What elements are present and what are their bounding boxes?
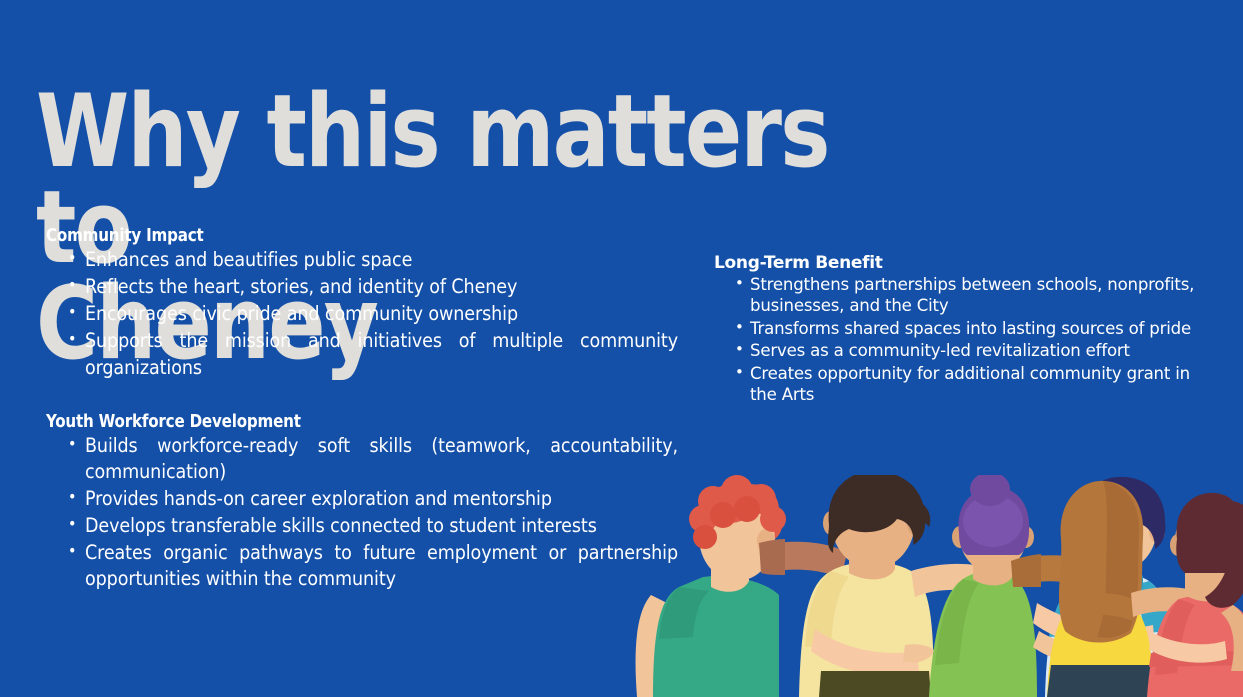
section-youth-workforce-development: Youth Workforce Development Builds workf…: [46, 412, 678, 593]
section-community-impact: Community Impact Enhances and beautifies…: [46, 226, 678, 381]
list-item: Creates opportunity for additional commu…: [714, 363, 1200, 406]
list-item: Creates organic pathways to future emplo…: [46, 540, 678, 592]
list-item: Transforms shared spaces into lasting so…: [714, 318, 1200, 339]
figure-brown-hair-yellow-top: [1047, 481, 1155, 697]
group-of-people-embracing-illustration: [633, 475, 1243, 697]
figure-ponytail-coral-dress: [1147, 493, 1243, 697]
list-item: Strengthens partnerships between schools…: [714, 274, 1200, 317]
section-heading-community-impact: Community Impact: [46, 226, 653, 246]
right-text-column: Long-Term Benefit Strengthens partnershi…: [714, 253, 1200, 406]
figure-dark-hair-yellow-shirt: [799, 475, 991, 697]
list-item: Develops transferable skills connected t…: [46, 513, 678, 539]
column-section-spacer: [46, 382, 678, 412]
figure-purple-bun-green-dress: [929, 475, 1037, 697]
section-long-term-benefit: Long-Term Benefit Strengthens partnershi…: [714, 253, 1200, 405]
section-heading-youth-workforce-development: Youth Workforce Development: [46, 412, 653, 432]
bullet-list-youth-workforce-development: Builds workforce-ready soft skills (team…: [46, 433, 678, 593]
list-item: Builds workforce-ready soft skills (team…: [46, 433, 678, 485]
list-item: Enhances and beautifies public space: [46, 247, 678, 273]
bullet-list-community-impact: Enhances and beautifies public space Ref…: [46, 247, 678, 381]
bullet-list-long-term-benefit: Strengthens partnerships between schools…: [714, 274, 1200, 405]
list-item: Encourages civic pride and community own…: [46, 301, 678, 327]
section-heading-long-term-benefit: Long-Term Benefit: [714, 253, 1200, 273]
left-text-column: Community Impact Enhances and beautifies…: [46, 226, 678, 593]
list-item: Serves as a community-led revitalization…: [714, 340, 1200, 361]
list-item: Supports the mission and initiatives of …: [46, 328, 678, 380]
figure-navy-hair-blue-shirt: [1045, 477, 1173, 697]
slide-canvas: Why this matters to Cheney Community Imp…: [0, 0, 1243, 697]
list-item: Reflects the heart, stories, and identit…: [46, 274, 678, 300]
list-item: Provides hands-on career exploration and…: [46, 486, 678, 512]
